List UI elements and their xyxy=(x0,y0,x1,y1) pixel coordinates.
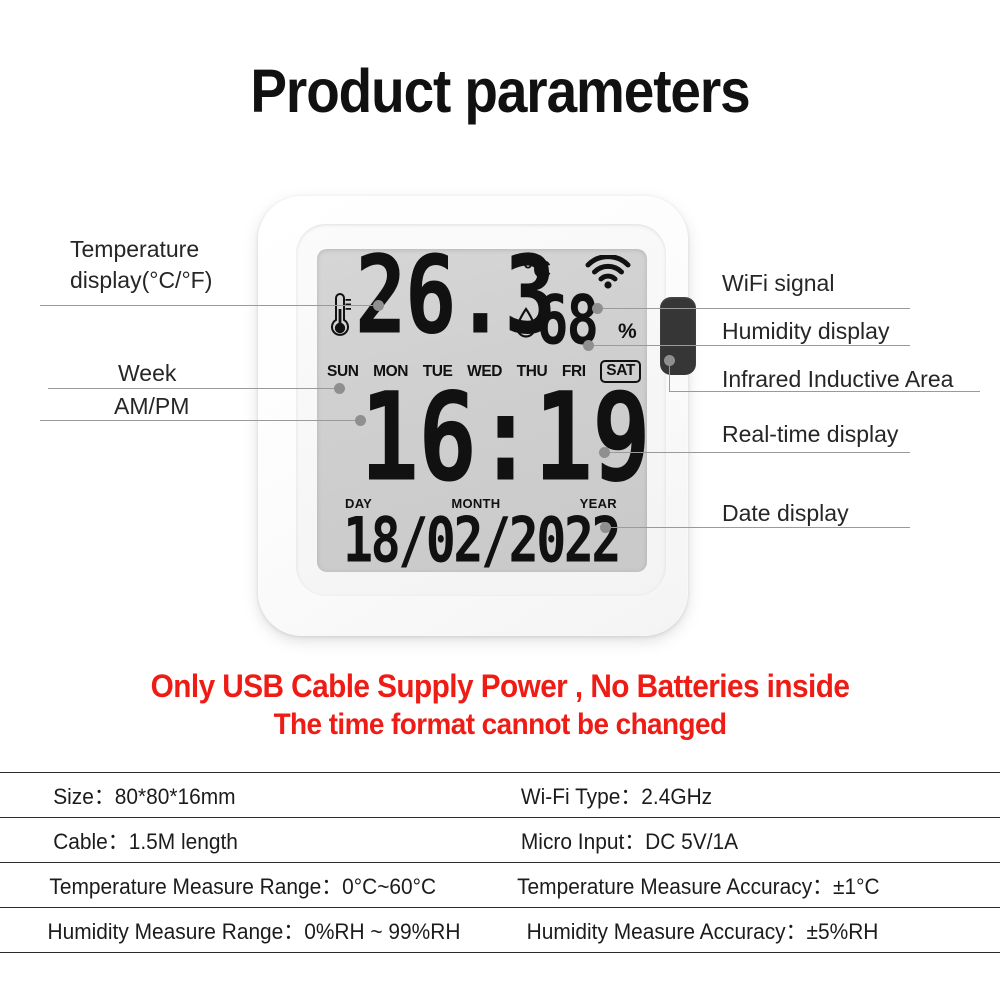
callout-ampm-label: AM/PM xyxy=(114,391,189,421)
lcd-time-value: 16:19 xyxy=(360,377,647,500)
leader-line-ampm xyxy=(40,420,360,421)
callout-week: Week xyxy=(118,358,176,388)
callout-date-display: Date display xyxy=(722,498,849,528)
leader-dot-date xyxy=(600,522,611,533)
callout-week-label: Week xyxy=(118,358,176,388)
product-parameters-page: Product parameters Temperature display(°… xyxy=(0,0,1000,1000)
thermometer-icon xyxy=(327,291,353,339)
spec-humidity-range: Humidity Measure Range：0%RH ~ 99%RH xyxy=(0,914,475,946)
weekday-sun: SUN xyxy=(327,363,359,381)
leader-dot-realtime xyxy=(599,447,610,458)
spec-temp-accuracy: Temperature Measure Accuracy：±1°C xyxy=(500,869,975,901)
callout-temperature-display-line2: display(°C/°F) xyxy=(70,265,212,296)
leader-dot-infrared xyxy=(664,355,675,366)
leader-line-temperature xyxy=(40,305,378,306)
leader-line-week xyxy=(48,388,340,389)
callout-temperature-display: Temperature display(°C/°F) xyxy=(70,234,212,296)
page-title: Product parameters xyxy=(50,56,950,126)
lcd-humidity-unit: % xyxy=(618,321,637,342)
spec-size: Size：80*80*16mm xyxy=(0,779,475,811)
lcd-date-value: 18/02/2022 xyxy=(343,509,619,572)
callout-humidity-display-label: Humidity display xyxy=(722,316,889,346)
device-body: 26.3 °C 68 % SU xyxy=(258,196,688,636)
warning-block: Only USB Cable Supply Power , No Batteri… xyxy=(0,666,1000,744)
spec-humidity-accuracy: Humidity Measure Accuracy：±5%RH xyxy=(500,914,975,946)
callout-ampm: AM/PM xyxy=(114,391,189,421)
spec-wifi-type: Wi-Fi Type：2.4GHz xyxy=(500,779,975,811)
leader-dot-week xyxy=(334,383,345,394)
callout-infrared-area: Infrared Inductive Area xyxy=(722,364,953,394)
warning-line-2: The time format cannot be changed xyxy=(35,706,965,744)
table-row: Temperature Measure Range：0°C~60°C Tempe… xyxy=(0,863,1000,908)
warning-line-1: Only USB Cable Supply Power , No Batteri… xyxy=(35,666,965,706)
water-droplet-icon xyxy=(515,307,537,339)
callout-date-display-label: Date display xyxy=(722,498,849,528)
leader-dot-ampm xyxy=(355,415,366,426)
leader-dot-temperature xyxy=(373,300,384,311)
table-row: Humidity Measure Range：0%RH ~ 99%RH Humi… xyxy=(0,908,1000,953)
leader-dot-wifi xyxy=(592,303,603,314)
lcd-temperature-unit: °C xyxy=(523,258,551,283)
callout-temperature-display-line1: Temperature xyxy=(70,234,212,265)
spec-cable: Cable：1.5M length xyxy=(0,824,475,856)
leader-dot-humidity xyxy=(583,340,594,351)
callout-infrared-area-label: Infrared Inductive Area xyxy=(722,364,953,394)
leader-line-realtime xyxy=(605,452,910,453)
spec-micro-input: Micro Input：DC 5V/1A xyxy=(500,824,975,856)
table-row: Size：80*80*16mm Wi-Fi Type：2.4GHz xyxy=(0,773,1000,818)
leader-line-wifi xyxy=(598,308,910,309)
spec-temp-range: Temperature Measure Range：0°C~60°C xyxy=(0,869,475,901)
callout-realtime-display-label: Real-time display xyxy=(722,419,898,449)
leader-line-date xyxy=(606,527,910,528)
callout-realtime-display: Real-time display xyxy=(722,419,898,449)
specification-table: Size：80*80*16mm Wi-Fi Type：2.4GHz Cable：… xyxy=(0,772,1000,953)
leader-line-humidity xyxy=(589,345,910,346)
callout-wifi-signal-label: WiFi signal xyxy=(722,268,834,298)
table-row: Cable：1.5M length Micro Input：DC 5V/1A xyxy=(0,818,1000,863)
leader-line-infrared xyxy=(669,391,980,392)
callout-humidity-display: Humidity display xyxy=(722,316,889,346)
callout-wifi-signal: WiFi signal xyxy=(722,268,834,298)
lcd-screen: 26.3 °C 68 % SU xyxy=(317,249,647,572)
